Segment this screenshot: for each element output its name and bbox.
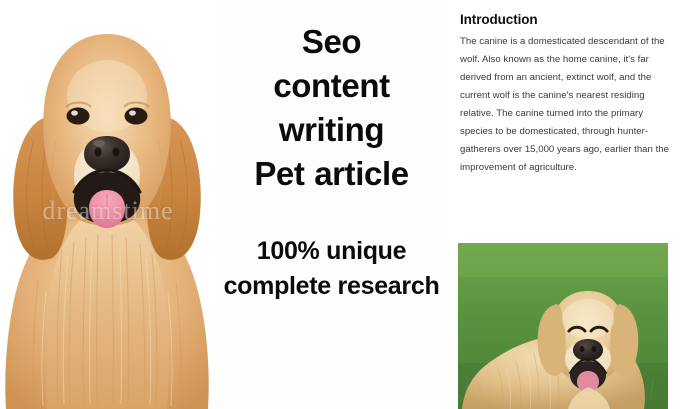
headline-block: Seo content writing Pet article	[215, 20, 448, 196]
subheadline-line-2: complete research	[215, 269, 448, 305]
headline-line-4: Pet article	[215, 152, 448, 196]
headline-line-1: Seo	[215, 20, 448, 64]
article-heading: Introduction	[460, 12, 670, 27]
right-article-panel: Introduction The canine is a domesticate…	[448, 0, 680, 409]
subheadline-line-1: 100% unique	[215, 234, 448, 270]
golden-retriever-portrait-photo	[0, 0, 215, 409]
headline-line-3: writing	[215, 108, 448, 152]
golden-retriever-on-grass-photo	[458, 243, 668, 409]
gig-thumbnail: dreamstime Seo content writing Pet artic…	[0, 0, 680, 409]
headline-line-2: content	[215, 64, 448, 108]
center-headline-panel: Seo content writing Pet article 100% uni…	[215, 0, 448, 409]
subheadline-block: 100% unique complete research	[215, 234, 448, 305]
article-body-text: The canine is a domesticated descendant …	[460, 33, 674, 177]
left-photo-panel: dreamstime	[0, 0, 215, 409]
